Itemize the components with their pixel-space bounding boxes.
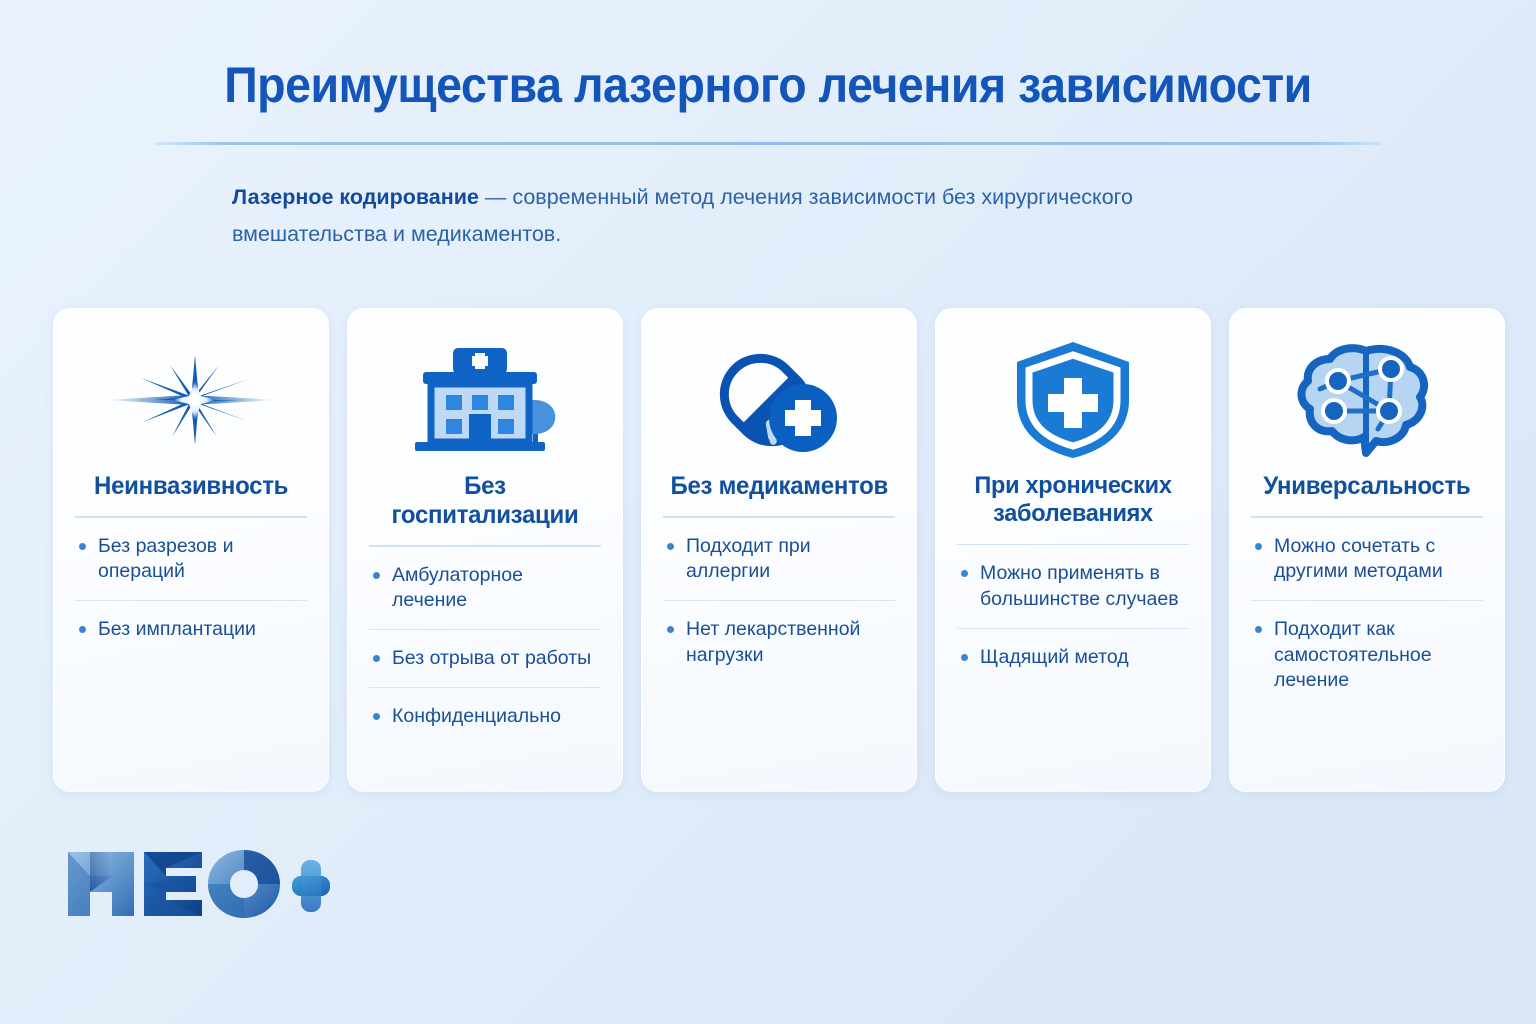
list-item: Можно сочетать с другими методами	[1251, 518, 1483, 600]
bullet-dot-icon	[373, 655, 380, 662]
bullet-dot-icon	[667, 543, 674, 550]
card-bullet-list: Без разрезов и операций Без имплантации	[75, 518, 307, 658]
subtitle: Лазерное кодирование — современный метод…	[232, 179, 1172, 253]
card-bez-medikamentov[interactable]: Без медикаментов Подходит при аллергии Н…	[641, 308, 917, 792]
card-bez-gospitalizacii[interactable]: Без госпитализации Амбулаторное лечение …	[347, 308, 623, 792]
bullet-dot-icon	[1255, 543, 1262, 550]
card-neinvazivnost[interactable]: Неинвазивность Без разрезов и операций Б…	[53, 308, 329, 792]
bullet-text: Подходит при аллергии	[686, 534, 895, 585]
bullet-text: Щадящий метод	[980, 645, 1129, 671]
card-title: Без медикаментов	[670, 472, 888, 501]
brand-logo[interactable]	[60, 838, 330, 928]
benefit-cards-row: Неинвазивность Без разрезов и операций Б…	[53, 308, 1505, 792]
bullet-text: Амбулаторное лечение	[392, 563, 601, 614]
list-item: Без отрыва от работы	[369, 629, 601, 687]
list-item: Нет лекарственной нагрузки	[663, 600, 895, 683]
bullet-text: Без отрыва от работы	[392, 646, 591, 672]
bullet-text: Без разрезов и операций	[98, 534, 307, 585]
card-icon-slot	[1251, 336, 1483, 464]
list-item: Подходит при аллергии	[663, 518, 895, 600]
list-item: Можно применять в большинстве случаев	[957, 545, 1189, 627]
card-pri-hronicheskih-zabolevaniyah[interactable]: При хронических заболеваниях Можно приме…	[935, 308, 1211, 792]
pills-capsule-icon	[704, 342, 854, 458]
card-title: Без госпитализации	[374, 472, 597, 530]
bullet-text: Нет лекарственной нагрузки	[686, 617, 895, 668]
hospital-building-icon	[405, 342, 565, 458]
list-item: Подходит как самостоятельное лечение	[1251, 600, 1483, 709]
list-item: Без имплантации	[75, 600, 307, 658]
bullet-dot-icon	[79, 626, 86, 633]
bullet-text: Можно применять в большинстве случаев	[980, 561, 1189, 612]
list-item: Без разрезов и операций	[75, 518, 307, 600]
bullet-text: Конфиденциально	[392, 704, 561, 730]
page-title: Преимущества лазерного лечения зависимос…	[54, 58, 1482, 112]
brain-network-icon	[1294, 341, 1440, 459]
bullet-text: Без имплантации	[98, 617, 256, 643]
card-title: При хронических заболеваниях	[962, 472, 1185, 529]
card-title: Неинвазивность	[94, 472, 288, 501]
card-bullet-list: Можно сочетать с другими методами Подход…	[1251, 518, 1483, 710]
list-item: Щадящий метод	[957, 628, 1189, 686]
card-icon-slot	[957, 336, 1189, 464]
laser-burst-icon	[106, 345, 276, 455]
bullet-dot-icon	[961, 570, 968, 577]
card-icon-slot	[369, 336, 601, 464]
title-underline-rule	[155, 142, 1381, 145]
header: Преимущества лазерного лечения зависимос…	[0, 0, 1536, 145]
shield-cross-icon	[1009, 338, 1137, 462]
bullet-dot-icon	[1255, 626, 1262, 633]
bullet-text: Можно сочетать с другими методами	[1274, 534, 1483, 585]
card-universalnost[interactable]: Универсальность Можно сочетать с другими…	[1229, 308, 1505, 792]
bullet-text: Подходит как самостоятельное лечение	[1274, 617, 1483, 694]
card-icon-slot	[75, 336, 307, 464]
infographic-page: Преимущества лазерного лечения зависимос…	[0, 0, 1536, 1024]
list-item: Амбулаторное лечение	[369, 547, 601, 629]
bullet-dot-icon	[373, 713, 380, 720]
bullet-dot-icon	[373, 572, 380, 579]
bullet-dot-icon	[79, 543, 86, 550]
subtitle-lead: Лазерное кодирование	[232, 185, 479, 209]
card-bullet-list: Амбулаторное лечение Без отрыва от работ…	[369, 547, 601, 745]
bullet-dot-icon	[961, 654, 968, 661]
list-item: Конфиденциально	[369, 687, 601, 745]
bullet-dot-icon	[667, 626, 674, 633]
card-bullet-list: Можно применять в большинстве случаев Ща…	[957, 545, 1189, 685]
neo-plus-logo-icon	[60, 838, 330, 928]
card-bullet-list: Подходит при аллергии Нет лекарственной …	[663, 518, 895, 684]
card-icon-slot	[663, 336, 895, 464]
card-title: Универсальность	[1263, 472, 1470, 501]
